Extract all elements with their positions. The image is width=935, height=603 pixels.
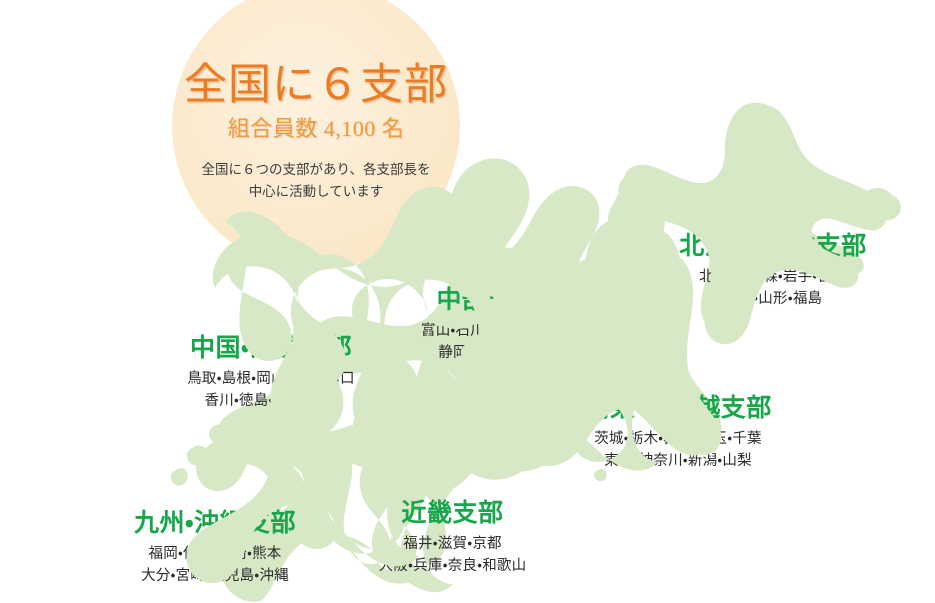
branch-title: 近畿支部 (345, 499, 560, 528)
branch-prefectures-line1: 福井・滋賀・京都 (345, 533, 560, 555)
infographic-canvas: 全国に６支部 組合員数 4,100 名 全国に６つの支部があり、各支部長を 中心… (0, 0, 935, 603)
branch-prefectures: 福井・滋賀・京都 大阪・兵庫・奈良・和歌山 (345, 533, 560, 578)
branch-prefectures-line2: 東京・神奈川・新潟・山梨 (558, 450, 798, 472)
map-region-shikoku (268, 419, 408, 470)
member-count-label: 組合員数 4,100 名 (160, 116, 472, 142)
map-region-oshima (613, 185, 643, 222)
headline-block: 全国に６支部 組合員数 4,100 名 全国に６つの支部があり、各支部長を 中心… (160, 62, 472, 203)
branch-title: 関東・甲信越支部 (558, 394, 798, 423)
headline-description: 全国に６つの支部があり、各支部長を 中心に活動しています (160, 159, 472, 204)
map-silhouette-oshima (608, 194, 642, 233)
branch-prefectures: 鳥取・島根・岡山・広島・山口 香川・徳島・愛媛・高知 (148, 368, 394, 413)
branch-prefectures-line1: 茨城・栃木・群馬・埼玉・千葉 (558, 428, 798, 450)
branch-prefectures-line2: 大分・宮崎・鹿児島・沖縄 (100, 565, 330, 587)
branch-label-chugoku-shikoku[interactable]: 中国・四国支部 鳥取・島根・岡山・広島・山口 香川・徳島・愛媛・高知 (148, 334, 394, 413)
branch-prefectures: 富山・石川・長野・岐阜 静岡・愛知・三重 (380, 320, 595, 365)
branch-prefectures: 茨城・栃木・群馬・埼玉・千葉 東京・神奈川・新潟・山梨 (558, 428, 798, 473)
headline-description-line1: 全国に６つの支部があり、各支部長を (160, 159, 472, 181)
branch-title: 中国・四国支部 (148, 334, 394, 363)
branch-label-hokkaido-tohoku[interactable]: 北海道・東北支部 北海道・青森・岩手・宮城 秋田・山形・福島 (618, 232, 928, 311)
branch-label-kinki[interactable]: 近畿支部 福井・滋賀・京都 大阪・兵庫・奈良・和歌山 (345, 499, 560, 578)
branch-prefectures-line1: 富山・石川・長野・岐阜 (380, 320, 595, 342)
map-silhouette-okinawa (171, 468, 188, 485)
map-region-shiretoko (872, 194, 901, 220)
branch-label-kanto-koshinetsu[interactable]: 関東・甲信越支部 茨城・栃木・群馬・埼玉・千葉 東京・神奈川・新潟・山梨 (558, 394, 798, 473)
branch-prefectures-line2: 大阪・兵庫・奈良・和歌山 (345, 555, 560, 577)
headline-description-line2: 中心に活動しています (160, 181, 472, 203)
map-silhouette-small-isle-a (187, 446, 208, 466)
branch-title: 北海道・東北支部 (618, 232, 928, 261)
branch-prefectures: 北海道・青森・岩手・宮城 秋田・山形・福島 (618, 266, 928, 311)
branch-prefectures-line1: 福岡・佐賀・長崎・熊本 (100, 543, 330, 565)
branch-prefectures-line2: 静岡・愛知・三重 (380, 342, 595, 364)
branch-title: 九州・沖縄支部 (100, 509, 330, 538)
page-title: 全国に６支部 (160, 62, 472, 110)
branch-prefectures: 福岡・佐賀・長崎・熊本 大分・宮崎・鹿児島・沖縄 (100, 543, 330, 588)
branch-title: 中部支部 (380, 286, 595, 315)
branch-prefectures-line1: 北海道・青森・岩手・宮城 (618, 266, 928, 288)
branch-prefectures-line2: 秋田・山形・福島 (618, 288, 928, 310)
map-silhouette-shikoku (256, 410, 430, 465)
branch-prefectures-line1: 鳥取・島根・岡山・広島・山口 (148, 368, 394, 390)
branch-label-chubu[interactable]: 中部支部 富山・石川・長野・岐阜 静岡・愛知・三重 (380, 286, 595, 365)
branch-prefectures-line2: 香川・徳島・愛媛・高知 (148, 390, 394, 412)
map-silhouette-shiretoko (862, 188, 895, 221)
branch-label-kyushu-okinawa[interactable]: 九州・沖縄支部 福岡・佐賀・長崎・熊本 大分・宮崎・鹿児島・沖縄 (100, 509, 330, 588)
map-silhouette-small-isle-b (209, 425, 228, 444)
